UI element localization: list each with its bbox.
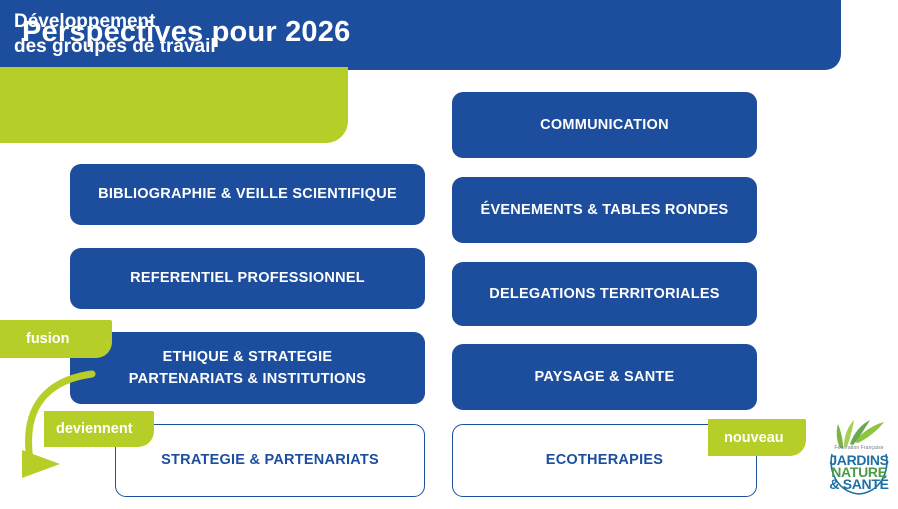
slide-canvas: Perspectives pour 2026 Développement des…	[0, 0, 898, 509]
workgroup-box-strategie-partenariats[interactable]: STRATEGIE & PARTENARIATS	[115, 424, 425, 497]
tag-nouveau: nouveau	[708, 419, 806, 456]
workgroup-label: COMMUNICATION	[540, 114, 669, 136]
tag-label: nouveau	[724, 430, 784, 446]
workgroup-label: ETHIQUE & STRATEGIE PARTENARIATS & INSTI…	[129, 346, 366, 391]
tag-deviennent: deviennent	[44, 411, 154, 447]
workgroup-box-communication[interactable]: COMMUNICATION	[452, 92, 757, 158]
workgroup-label: STRATEGIE & PARTENARIATS	[161, 449, 379, 471]
tag-label: fusion	[26, 331, 70, 347]
tag-label: deviennent	[56, 421, 133, 437]
workgroup-label: DELEGATIONS TERRITORIALES	[489, 283, 719, 305]
workgroup-box-ethique-partenariats[interactable]: ETHIQUE & STRATEGIE PARTENARIATS & INSTI…	[70, 332, 425, 404]
workgroup-label: ÉVENEMENTS & TABLES RONDES	[481, 199, 729, 221]
logo-federation-text: Fédération Française	[824, 445, 894, 451]
workgroup-label: PAYSAGE & SANTE	[535, 366, 675, 388]
workgroup-label: ECOTHERAPIES	[546, 449, 663, 471]
tag-fusion: fusion	[0, 320, 112, 358]
subheader-banner	[0, 67, 348, 143]
workgroup-box-evenements[interactable]: ÉVENEMENTS & TABLES RONDES	[452, 177, 757, 243]
workgroup-box-referentiel[interactable]: REFERENTIEL PROFESSIONNEL	[70, 248, 425, 309]
workgroup-box-bibliographie[interactable]: BIBLIOGRAPHIE & VEILLE SCIENTIFIQUE	[70, 164, 425, 225]
workgroup-label: REFERENTIEL PROFESSIONNEL	[130, 267, 365, 289]
organization-logo: Fédération Française JARDINS NATURE & SA…	[824, 412, 894, 500]
subheader-text: Développement des groupes de travail	[14, 9, 216, 60]
workgroup-box-delegations[interactable]: DELEGATIONS TERRITORIALES	[452, 262, 757, 326]
workgroup-box-paysage-sante[interactable]: PAYSAGE & SANTE	[452, 344, 757, 410]
logo-line-sante: & SANTÉ	[824, 476, 894, 492]
workgroup-label: BIBLIOGRAPHIE & VEILLE SCIENTIFIQUE	[98, 183, 397, 205]
